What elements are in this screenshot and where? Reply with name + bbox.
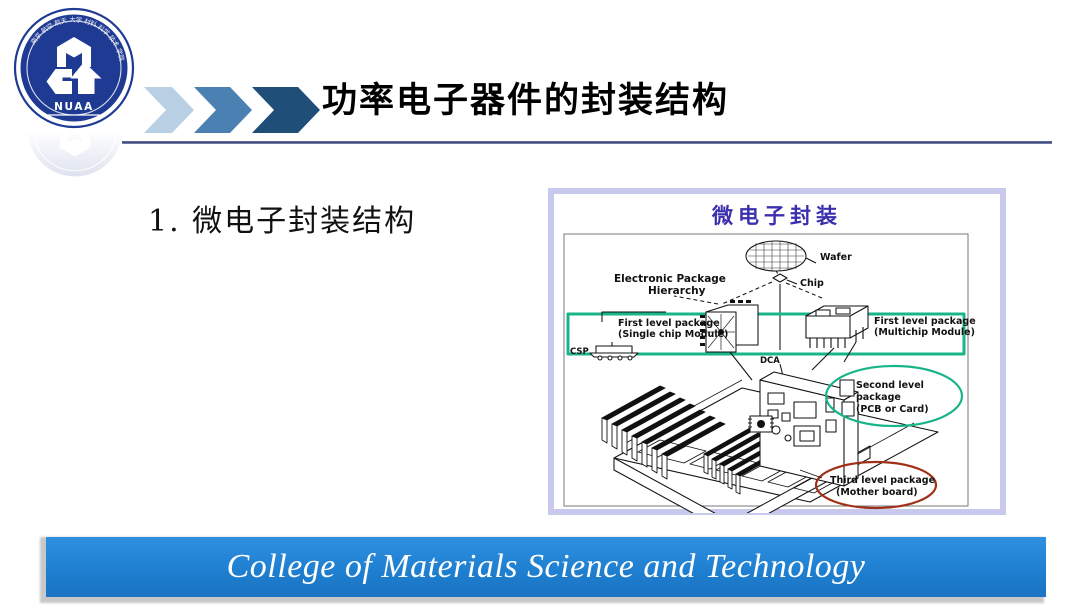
figure-inner-frame: 微电子封装 [554,194,1000,509]
nuaa-seal-logo: 南京 航空 航天 大学 材料 科学 技术 学院 NUAA [12,6,136,130]
label-hierarchy-line1: Electronic Package [614,273,726,285]
label-second-line3: (PCB or Card) [856,404,929,415]
label-chip: Chip [800,278,824,289]
svg-text:NUAA: NUAA [54,101,94,113]
label-first-single-line2: (Single chip Module) [618,329,728,340]
logo-container: 南京 航空 航天 大学 材料 科学 技术 学院 NUAA [12,6,138,182]
label-second-line1: Second level [856,380,924,391]
page-title: 功率电子器件的封装结构 [322,78,1022,124]
logo-reflection: NUAA [20,128,130,184]
label-third-line1: Third level package [830,475,935,486]
title-divider [122,141,1052,144]
microelectronic-packaging-figure: 微电子封装 [548,188,1006,515]
section-heading: 1. 微电子封装结构 [148,196,416,240]
label-dca: DCA [760,356,780,366]
footer-text: College of Materials Science and Technol… [227,548,866,586]
label-third-line2: (Mother board) [836,487,918,498]
svg-text:大学: 大学 [69,15,83,24]
figure-caption: 微电子封装 [554,200,1000,230]
label-wafer: Wafer [820,252,852,263]
packaging-hierarchy-diagram: Wafer Chip Electronic Package Hierarchy [554,230,1000,513]
chevron-3-icon [252,87,320,133]
label-first-single-line1: First level package [618,318,720,329]
label-second-line2: package [856,392,901,403]
footer-bar: College of Materials Science and Technol… [46,537,1046,597]
label-first-multi-line2: (Multichip Module) [874,327,975,338]
chevron-2-icon [194,87,252,133]
label-csp: CSP [570,347,589,357]
chevron-1-icon [144,87,194,133]
label-first-multi-line1: First level package [874,316,976,327]
chevron-arrow-group [142,85,322,135]
label-hierarchy-line2: Hierarchy [648,285,706,297]
presentation-slide: 南京 航空 航天 大学 材料 科学 技术 学院 NUAA [0,0,1080,608]
